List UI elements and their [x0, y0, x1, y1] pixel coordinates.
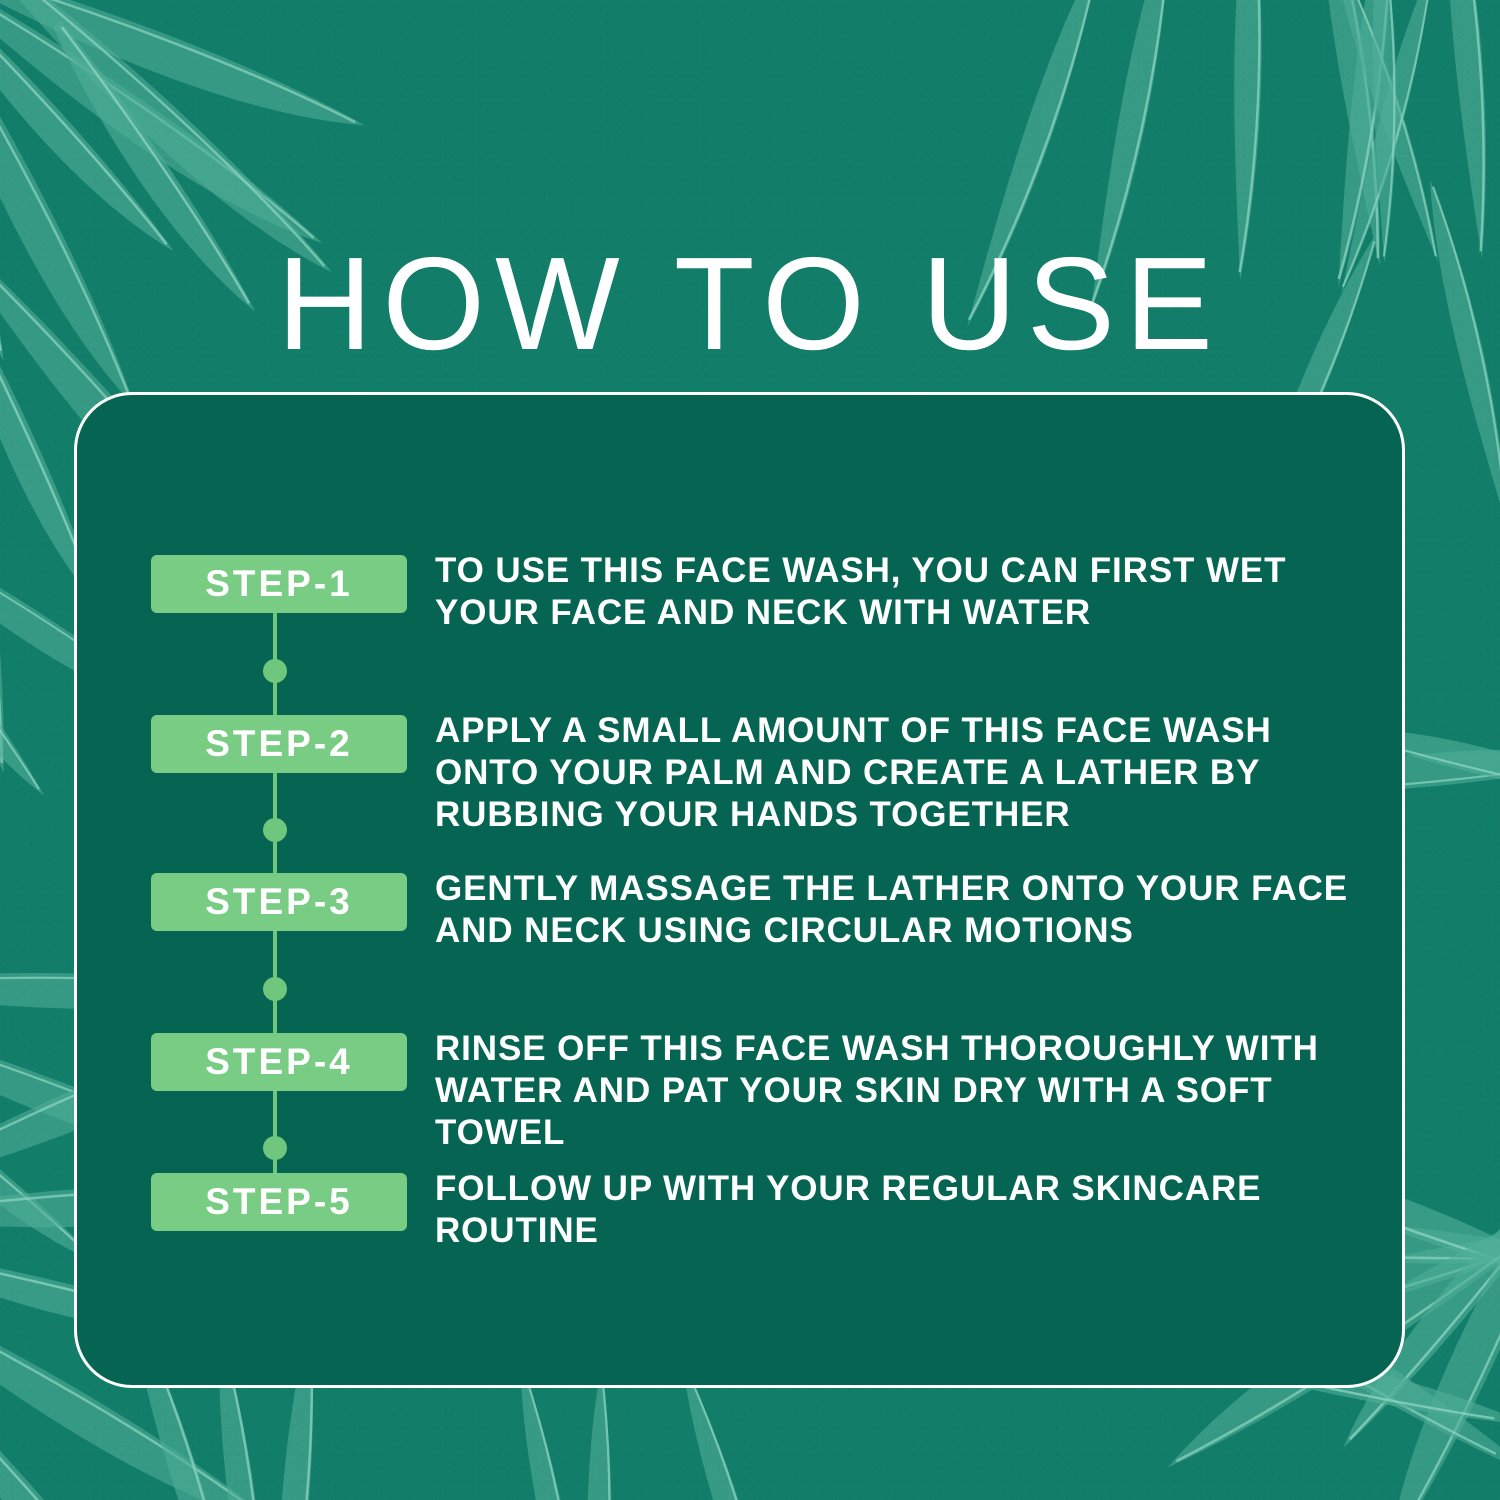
- step-text-4: RINSE OFF THIS FACE WASH THOROUGHLY WITH…: [435, 1028, 1365, 1154]
- connector-dot-3-4: [263, 977, 287, 1001]
- page-title: HOW TO USE: [0, 238, 1500, 370]
- step-text-5: FOLLOW UP WITH YOUR REGULAR SKINCARE ROU…: [435, 1168, 1365, 1252]
- connector-dot-2-3: [263, 818, 287, 842]
- steps-list: STEP-1 TO USE THIS FACE WASH, YOU CAN FI…: [77, 395, 1402, 1385]
- connector-dot-4-5: [263, 1136, 287, 1160]
- step-badge-2[interactable]: STEP-2: [151, 715, 407, 773]
- connector-dot-1-2: [263, 659, 287, 683]
- steps-card: STEP-1 TO USE THIS FACE WASH, YOU CAN FI…: [74, 392, 1405, 1388]
- step-badge-3[interactable]: STEP-3: [151, 873, 407, 931]
- poster-canvas: HOW TO USE STEP-1 TO USE THIS FACE WASH,…: [0, 0, 1500, 1500]
- step-badge-5[interactable]: STEP-5: [151, 1173, 407, 1231]
- step-text-2: APPLY A SMALL AMOUNT OF THIS FACE WASH O…: [435, 710, 1365, 836]
- step-badge-1[interactable]: STEP-1: [151, 555, 407, 613]
- step-text-3: GENTLY MASSAGE THE LATHER ONTO YOUR FACE…: [435, 868, 1365, 952]
- step-badge-4[interactable]: STEP-4: [151, 1033, 407, 1091]
- step-text-1: TO USE THIS FACE WASH, YOU CAN FIRST WET…: [435, 550, 1365, 634]
